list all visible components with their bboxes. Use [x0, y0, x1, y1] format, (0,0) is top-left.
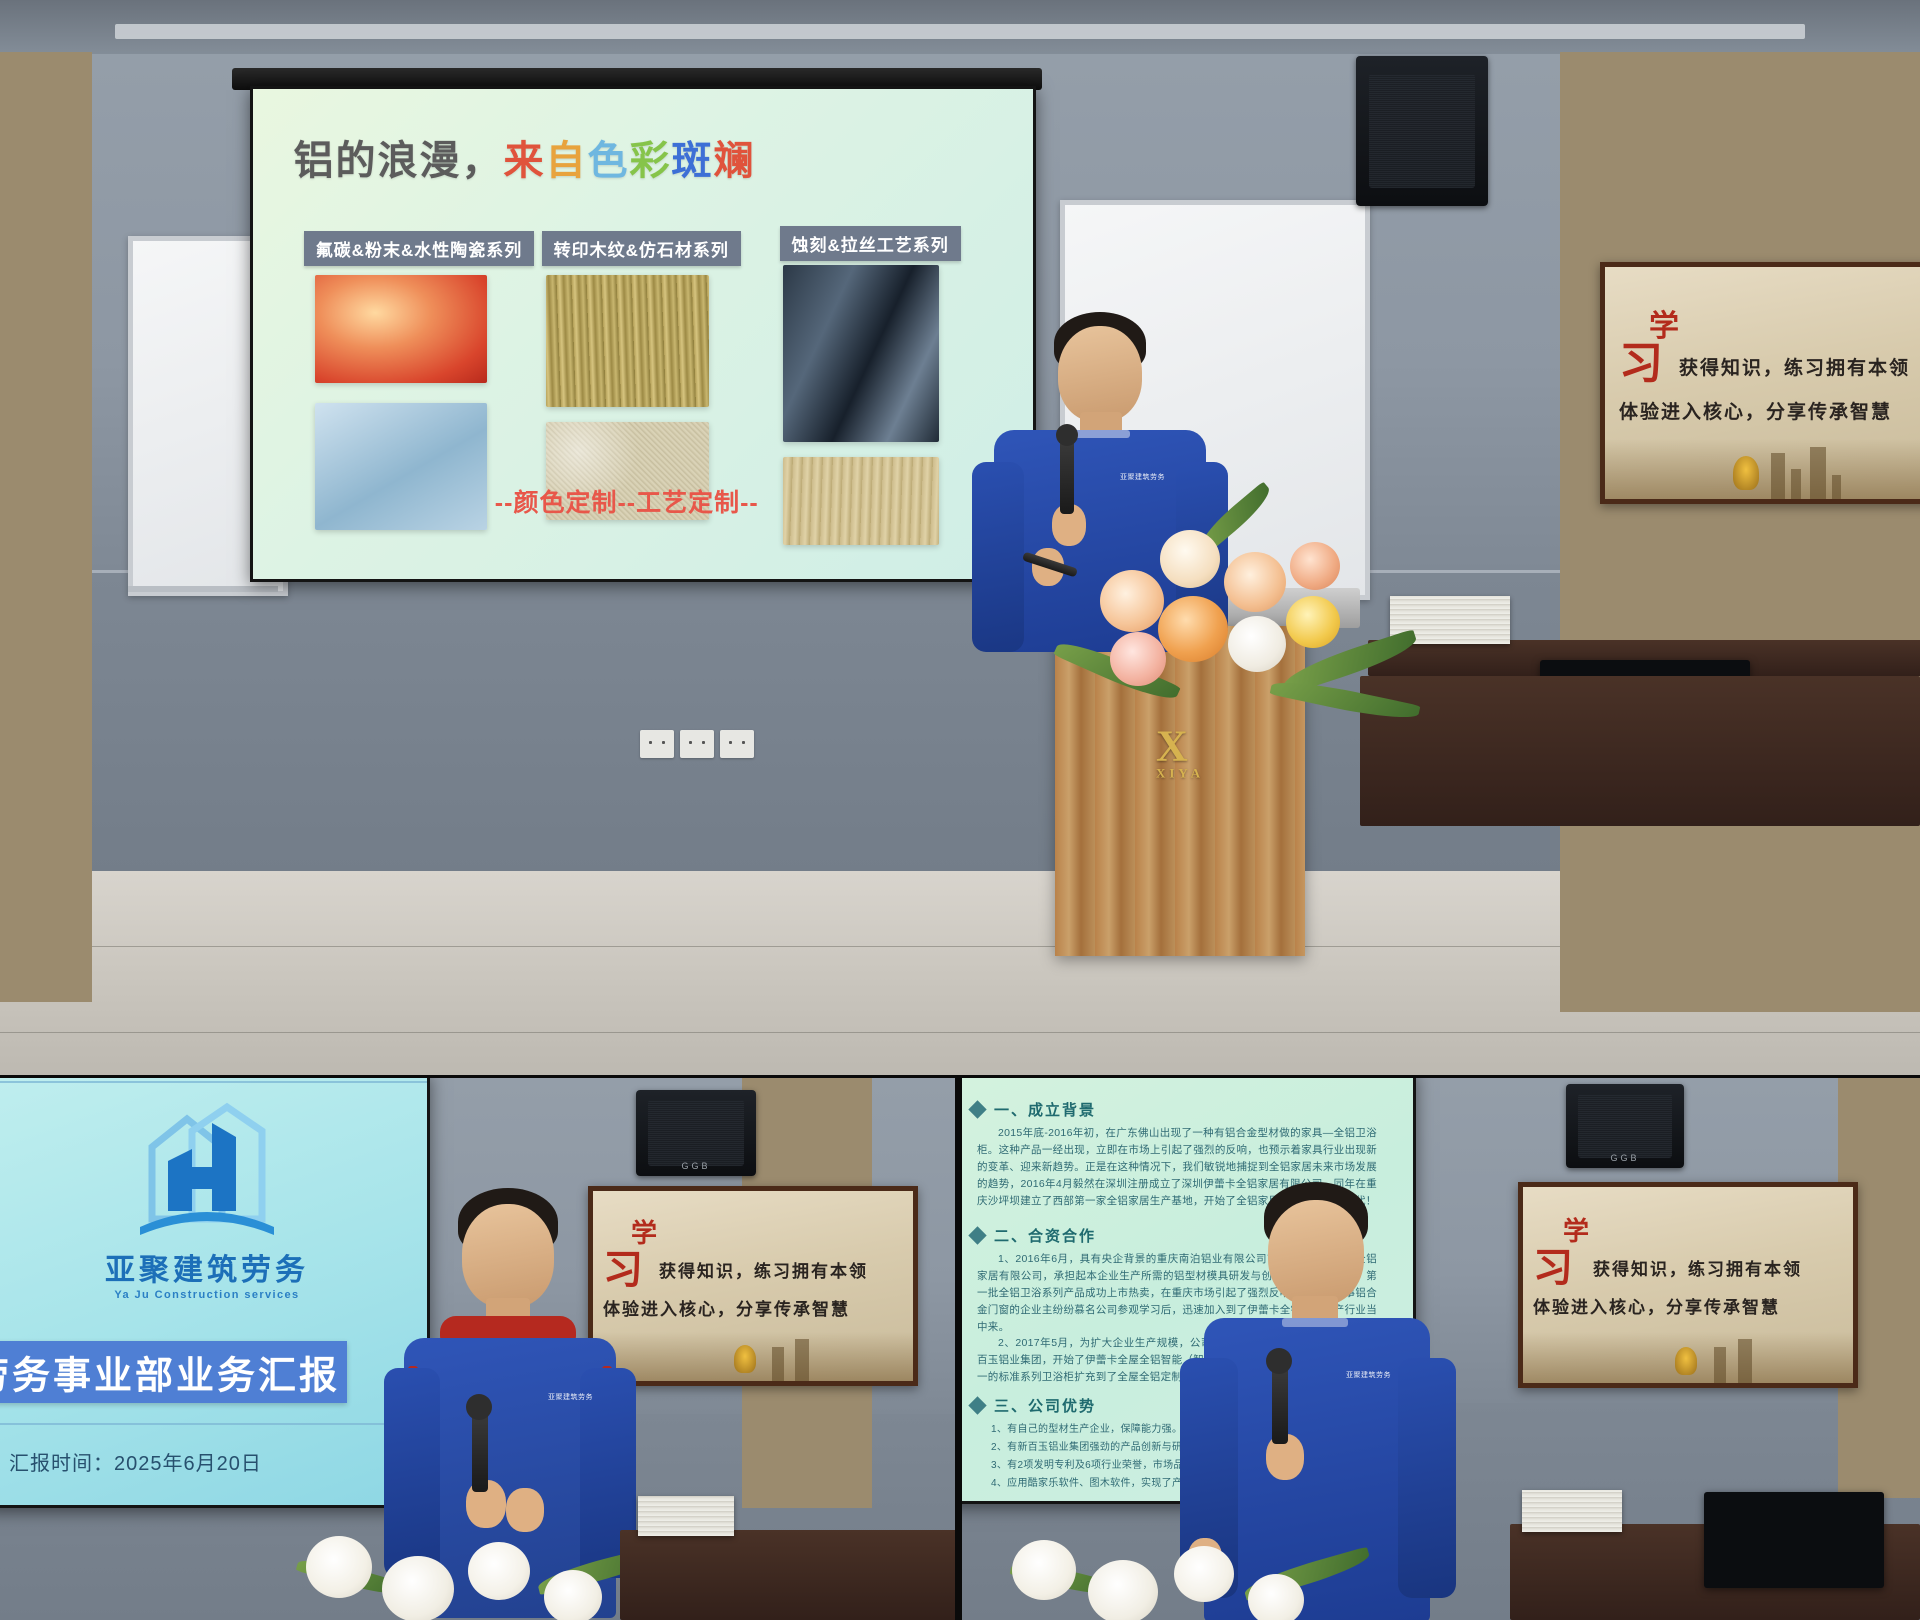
skyline-building [1771, 453, 1785, 499]
section-3-title: 三、公司优势 [994, 1395, 1096, 1416]
calligraphy-skyline [1605, 439, 1920, 499]
report-date: 汇报时间：2025年6月20日 [9, 1447, 262, 1476]
slide-product: 铝的浪漫，来自色彩斑斓 氟碳&粉末&水性陶瓷系列 转印木纹&仿石材系列 蚀刻&拉… [253, 89, 1033, 579]
flower-arrangement-top [1040, 500, 1420, 770]
diamond-bullet-icon [968, 1396, 986, 1414]
rose-peach [1100, 570, 1164, 632]
rose-pink [1110, 632, 1166, 686]
head [1268, 1200, 1364, 1306]
diamond-bullet-icon [968, 1226, 986, 1244]
product-photo-woodgrain [546, 275, 710, 407]
desk-bl [620, 1530, 955, 1620]
section-heading-3: 三、公司优势 [971, 1395, 1096, 1416]
report-heading: 劳务事业部业务汇报 [0, 1345, 340, 1400]
head [1058, 326, 1142, 422]
conference-room-top: 铝的浪漫，来自色彩斑斓 氟碳&粉末&水性陶瓷系列 转印木纹&仿石材系列 蚀刻&拉… [0, 0, 1920, 1075]
ceiling-light-strip [115, 24, 1805, 39]
microphone-head [466, 1394, 492, 1420]
rose-cream [1160, 530, 1220, 588]
white-flower [1174, 1546, 1234, 1602]
section-heading-1: 一、成立背景 [971, 1099, 1096, 1120]
microphone-head [1266, 1348, 1292, 1374]
wall-outlet [640, 730, 674, 758]
golden-lamp-ornament [1675, 1347, 1697, 1375]
shirt-badge: 亚聚建筑劳务 [1120, 472, 1165, 482]
product-photo-red-panel [315, 275, 487, 383]
product-photo-brushed [783, 457, 939, 545]
golden-lamp-ornament [734, 1345, 756, 1373]
advantage-item-1: 1、有自己的型材生产企业，保障能力强。 [991, 1421, 1182, 1440]
collar-trim [1282, 1318, 1348, 1327]
projection-screen: 铝的浪漫，来自色彩斑斓 氟碳&粉末&水性陶瓷系列 转印木纹&仿石材系列 蚀刻&拉… [250, 86, 1036, 582]
white-flower [1248, 1574, 1304, 1620]
diamond-bullet-icon [968, 1100, 986, 1118]
wall-outlet [680, 730, 714, 758]
product-photo-blue-panel [315, 403, 487, 530]
company-name-en: Ya Ju Construction services [57, 1289, 357, 1301]
slide-footer: --颜色定制--工艺定制-- [495, 483, 759, 519]
skyline-building [1714, 1347, 1726, 1383]
calligraphy-line-1: 获得知识，练习拥有本领 [659, 1257, 868, 1282]
white-flower [544, 1570, 602, 1620]
leaf [1270, 675, 1421, 726]
ceiling-speaker-right [1356, 56, 1488, 206]
building-logo-icon [132, 1101, 282, 1241]
white-flower [382, 1556, 454, 1620]
flower-arrangement-br [1002, 1516, 1402, 1620]
white-flower [468, 1542, 530, 1600]
skyline-building [1738, 1339, 1752, 1383]
chip-woodgrain: 转印木纹&仿石材系列 [542, 231, 741, 266]
marble-pillar-right [1560, 52, 1920, 1012]
decor-line-top [0, 1081, 427, 1083]
conference-room-bl: GGB 亚聚建筑劳务 [0, 1078, 955, 1620]
chip-etching: 蚀刻&拉丝工艺系列 [780, 226, 961, 261]
calligraphy-line-2: 体验进入核心，分享传承智慧 [1533, 1293, 1780, 1318]
microphone [472, 1412, 488, 1492]
white-flower [1088, 1560, 1158, 1620]
rose-orange [1158, 596, 1228, 662]
calligraphy-line-1: 获得知识，练习拥有本领 [1593, 1255, 1802, 1280]
microphone [1272, 1366, 1288, 1444]
section-heading-2: 二、合资合作 [971, 1225, 1096, 1246]
calligraphy-char-xue: 学 [1563, 1211, 1589, 1248]
company-name-cn: 亚聚建筑劳务 [57, 1245, 357, 1289]
framed-calligraphy-top: 习 学 获得知识，练习拥有本领 体验进入核心，分享传承智慧 [1600, 262, 1920, 504]
jacket-badge: 亚聚建筑劳务 [548, 1392, 593, 1402]
section-2-title: 二、合资合作 [994, 1225, 1096, 1246]
skyline-building [1791, 469, 1801, 499]
photo-panel-top: 铝的浪漫，来自色彩斑斓 氟碳&粉末&水性陶瓷系列 转印木纹&仿石材系列 蚀刻&拉… [0, 0, 1920, 1075]
white-flower [1012, 1540, 1076, 1600]
section-1-title: 一、成立背景 [994, 1099, 1096, 1120]
head [462, 1204, 554, 1308]
calligraphy-canvas: 习 学 获得知识，练习拥有本领 体验进入核心，分享传承智慧 [1605, 267, 1920, 499]
framed-calligraphy-br: 习 学 获得知识，练习拥有本领 体验进入核心，分享传承智慧 [1518, 1182, 1858, 1388]
skyline-building [1832, 475, 1841, 499]
rose-peach [1224, 552, 1286, 612]
rose-coral [1290, 542, 1340, 590]
speaker-brand-label: GGB [1610, 1153, 1639, 1163]
speaker-brand-label: GGB [681, 1161, 710, 1171]
chip-fluorocarbon: 氟碳&粉末&水性陶瓷系列 [304, 231, 535, 266]
stack-of-books [638, 1496, 734, 1536]
title-bar: 劳务事业部业务汇报 [0, 1341, 347, 1403]
collar-trim [1072, 430, 1130, 438]
marble-pillar-left [0, 52, 92, 1002]
white-flower [306, 1536, 372, 1598]
shirt-badge: 亚聚建筑劳务 [1346, 1370, 1391, 1380]
calligraphy-char-xue: 学 [1649, 301, 1679, 345]
calligraphy-line-1: 获得知识，练习拥有本领 [1679, 353, 1910, 380]
golden-lamp-ornament [1733, 456, 1759, 490]
company-logo-mark [132, 1101, 282, 1241]
company-logo-block: 亚聚建筑劳务 Ya Ju Construction services [57, 1101, 357, 1301]
stack-of-books [1522, 1490, 1622, 1532]
arm-left [972, 462, 1024, 652]
speaker-grill [648, 1100, 744, 1165]
ceiling-speaker: GGB [1566, 1084, 1684, 1168]
slide-title: 铝的浪漫，来自色彩斑斓 [294, 128, 756, 186]
speaker-grill [1369, 74, 1475, 188]
ceiling-speaker: GGB [636, 1090, 756, 1176]
slide-title-plain: 铝的浪漫， [294, 139, 504, 183]
conference-room-br: GGB 一、成立背景 2015年底-2016年初，在广东佛山出现了一种有铝合金型… [962, 1078, 1920, 1620]
whiteboard-tray [128, 586, 278, 592]
calligraphy-line-2: 体验进入核心，分享传承智慧 [1619, 397, 1892, 424]
computer-monitor [1704, 1492, 1884, 1588]
wall-outlet [720, 730, 754, 758]
rose-white [1228, 616, 1286, 672]
calligraphy-canvas: 习 学 获得知识，练习拥有本领 体验进入核心，分享传承智慧 [1523, 1187, 1853, 1383]
microphone-head [1056, 424, 1078, 446]
arm-right [1398, 1358, 1456, 1598]
desk-front-panel [1360, 676, 1920, 826]
photo-collage: 铝的浪漫，来自色彩斑斓 氟碳&粉末&水性陶瓷系列 转印木纹&仿石材系列 蚀刻&拉… [0, 0, 1920, 1620]
photo-panel-bottom-right: GGB 一、成立背景 2015年底-2016年初，在广东佛山出现了一种有铝合金型… [962, 1078, 1920, 1620]
rose-yellow [1286, 596, 1340, 648]
floor-tile-line [0, 1032, 1920, 1033]
skyline-building [772, 1347, 784, 1381]
photo-panel-bottom-left: GGB 亚聚建筑劳务 [0, 1078, 955, 1620]
skyline-building [795, 1339, 809, 1381]
skyline-building [1810, 447, 1826, 499]
speaker-grill [1578, 1094, 1672, 1158]
product-photo-etched [783, 265, 939, 441]
